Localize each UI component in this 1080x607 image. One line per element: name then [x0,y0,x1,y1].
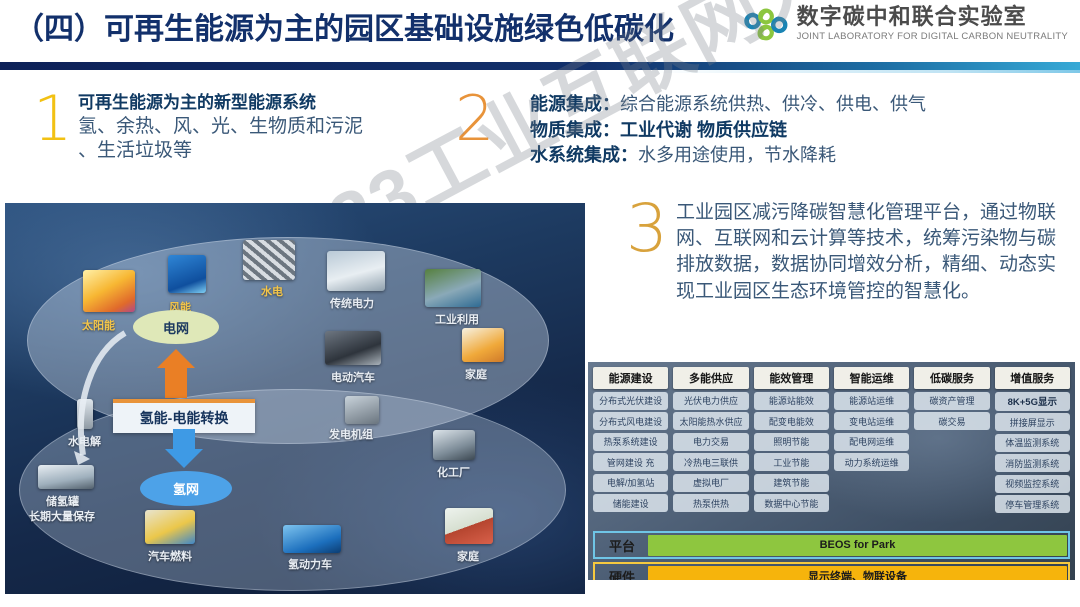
arch-cell-3-1[interactable]: 变电站运维 [834,412,909,430]
electrolyzer-icon [77,399,93,429]
block-2-row-2: 物质集成：工业代谢 物质供应链 [530,118,1075,144]
arch-cell-0-1[interactable]: 分布式风电建设 [593,412,668,430]
solar-icon [83,270,135,312]
home-top-icon [462,328,504,362]
hydrogen-storage-note: 长期大量保存 [29,508,95,524]
block-2-label-3: 水系统集成： [530,145,638,165]
hydrogen-vehicle-icon [283,525,341,553]
arch-cell-2-2[interactable]: 照明节能 [754,433,829,451]
industry-label: 工业利用 [435,311,479,327]
arch-column-multi-energy-supply: 多能供应 光伏电力供应 太阳能热水供应 电力交易 冷热电三联供 虚拟电厂 热泵供… [673,367,748,528]
block-number-1: 1 [33,88,72,150]
block-1-body-line-1: 氢、余热、风、光、生物质和污泥 [78,115,428,139]
arch-cell-5-4[interactable]: 视频监控系统 [995,475,1070,493]
arch-cell-3-0[interactable]: 能源站运维 [834,392,909,410]
orange-arrow-head [157,349,195,368]
hardware-label: 硬件 [596,567,648,581]
arch-cell-5-1[interactable]: 拼接屏显示 [995,413,1070,431]
block-1: 可再生能源为主的新型能源系统 氢、余热、风、光、生物质和污泥 、生活垃圾等 [78,92,428,164]
generator-label: 发电机组 [329,426,373,442]
arch-column-low-carbon-service: 低碳服务 碳资产管理 碳交易 [914,367,989,528]
arch-cell-2-0[interactable]: 能源站能效 [754,392,829,410]
block-2-row-1: 能源集成：综合能源系统供热、供冷、供电、供气 [530,92,1075,118]
arch-cell-2-1[interactable]: 配变电能效 [754,412,829,430]
arch-cell-0-2[interactable]: 热泵系统建设 [593,433,668,451]
thermal-power-label: 传统电力 [330,295,374,311]
lab-logo: 数字碳中和联合实验室 JOINT LABORATORY FOR DIGITAL … [744,6,1068,42]
slide-header: （四）可再生能源为主的园区基础设施绿色低碳化 数字碳中和联合实验室 JOINT … [0,0,1080,62]
hydro-label: 水电 [261,283,283,299]
logo-title-cn: 数字碳中和联合实验室 [797,6,1068,28]
block-3-paragraph: 工业园区减污降碳智慧化管理平台，通过物联网、互联网和云计算等技术，统筹污染物与碳… [676,202,1056,302]
generator-icon [345,396,379,424]
platform-strip: 平台 BEOS for Park [593,531,1070,559]
arch-header-0: 能源建设 [593,367,668,389]
arch-cell-1-2[interactable]: 电力交易 [673,433,748,451]
grid-node: 电网 [133,310,219,344]
blue-arrow-head [165,449,203,468]
home-bottom-label: 家庭 [457,548,479,564]
block-1-heading: 可再生能源为主的新型能源系统 [78,92,428,114]
block-number-2: 2 [455,88,494,150]
arch-cell-0-3[interactable]: 管网建设 充 [593,453,668,471]
arch-cell-0-0[interactable]: 分布式光伏建设 [593,392,668,410]
arch-header-5: 增值服务 [995,367,1070,389]
pinwheel-logo-icon [744,7,788,41]
block-2-value-1: 综合能源系统供热、供冷、供电、供气 [620,94,926,114]
converter-box: 氢能-电能转换 [113,399,255,433]
arch-cell-4-0[interactable]: 碳资产管理 [914,392,989,410]
block-2-label-2: 物质集成： [530,120,620,140]
block-1-body-line-2: 、生活垃圾等 [78,139,428,163]
arch-cell-1-0[interactable]: 光伏电力供应 [673,392,748,410]
hydrogen-node: 氢网 [140,471,232,506]
page-title: （四）可再生能源为主的园区基础设施绿色低碳化 [14,4,674,48]
arch-column-efficiency-management: 能效管理 能源站能效 配变电能效 照明节能 工业节能 建筑节能 数据中心节能 [754,367,829,528]
architecture-columns: 能源建设 分布式光伏建设 分布式风电建设 热泵系统建设 管网建设 充 电解/加氢… [593,367,1070,528]
arch-header-4: 低碳服务 [914,367,989,389]
platform-value: BEOS for Park [648,535,1067,556]
blue-arrow-shaft [173,429,195,451]
vehicle-fuel-label: 汽车燃料 [148,548,192,564]
arch-cell-4-1[interactable]: 碳交易 [914,412,989,430]
arch-cell-3-3[interactable]: 动力系统运维 [834,453,909,471]
home-bottom-icon [445,508,493,544]
chemical-plant-label: 化工厂 [437,464,470,480]
arch-header-3: 智能运维 [834,367,909,389]
hardware-value: 显示终端、物联设备 [648,566,1067,581]
block-2-label-1: 能源集成： [530,94,620,114]
block-2-value-3: 水多用途使用，节水降耗 [638,145,836,165]
solar-label: 太阳能 [82,317,115,333]
arch-header-1: 多能供应 [673,367,748,389]
arch-column-energy-construction: 能源建设 分布式光伏建设 分布式风电建设 热泵系统建设 管网建设 充 电解/加氢… [593,367,668,528]
hydrogen-tank-label: 储氢罐 [46,493,79,509]
vehicle-fuel-icon [145,510,195,544]
hydro-icon [243,240,295,280]
block-number-3: 3 [626,196,668,262]
arch-cell-5-5[interactable]: 停车管理系统 [995,495,1070,513]
logo-title-en: JOINT LABORATORY FOR DIGITAL CARBON NEUT… [797,32,1068,42]
arch-cell-1-5[interactable]: 热泵供热 [673,494,748,512]
arch-cell-1-3[interactable]: 冷热电三联供 [673,453,748,471]
arch-cell-5-3[interactable]: 消防监测系统 [995,454,1070,472]
industry-icon [425,269,481,307]
wind-icon [168,255,206,293]
arch-cell-3-2[interactable]: 配电网运维 [834,433,909,451]
arch-cell-5-0[interactable]: 8K+5G显示 [995,392,1070,411]
arch-cell-5-2[interactable]: 体温监测系统 [995,434,1070,452]
arch-cell-1-1[interactable]: 太阳能热水供应 [673,412,748,430]
ev-label: 电动汽车 [331,369,375,385]
chemical-plant-icon [433,430,475,460]
block-3: 工业园区减污降碳智慧化管理平台，通过物联网、互联网和云计算等技术，统筹污染物与碳… [676,200,1071,305]
home-top-label: 家庭 [465,366,487,382]
arch-cell-2-4[interactable]: 建筑节能 [754,474,829,492]
header-rule [0,62,1080,70]
arch-cell-2-5[interactable]: 数据中心节能 [754,494,829,512]
arch-header-2: 能效管理 [754,367,829,389]
arch-cell-0-5[interactable]: 储能建设 [593,494,668,512]
header-rule-secondary [0,70,1080,73]
hydrogen-tank-icon [38,465,94,489]
energy-system-diagram: 太阳能 风能 水电 传统电力 工业利用 家庭 电动汽车 电网 氢能-电能转换 氢… [5,203,585,594]
thermal-power-icon [327,251,385,291]
hydrogen-vehicle-label: 氢动力车 [288,556,332,572]
arch-cell-1-4[interactable]: 虚拟电厂 [673,474,748,492]
arch-column-value-added-service: 增值服务 8K+5G显示 拼接屏显示 体温监测系统 消防监测系统 视频监控系统 … [995,367,1070,528]
arch-cell-2-3[interactable]: 工业节能 [754,453,829,471]
arch-cell-0-4[interactable]: 电解/加氢站 [593,474,668,492]
block-2: 能源集成：综合能源系统供热、供冷、供电、供气 物质集成：工业代谢 物质供应链 水… [530,92,1075,169]
block-2-row-3: 水系统集成：水多用途使用，节水降耗 [530,143,1075,169]
block-2-value-2: 工业代谢 物质供应链 [620,120,787,140]
architecture-diagram: 能源建设 分布式光伏建设 分布式风电建设 热泵系统建设 管网建设 充 电解/加氢… [588,362,1075,580]
hardware-strip: 硬件 显示终端、物联设备 [593,562,1070,580]
platform-label: 平台 [596,536,648,555]
ev-icon [325,331,381,365]
arch-column-smart-operation: 智能运维 能源站运维 变电站运维 配电网运维 动力系统运维 [834,367,909,528]
orange-arrow-shaft [165,366,187,398]
electrolyzer-label: 水电解 [68,433,101,449]
